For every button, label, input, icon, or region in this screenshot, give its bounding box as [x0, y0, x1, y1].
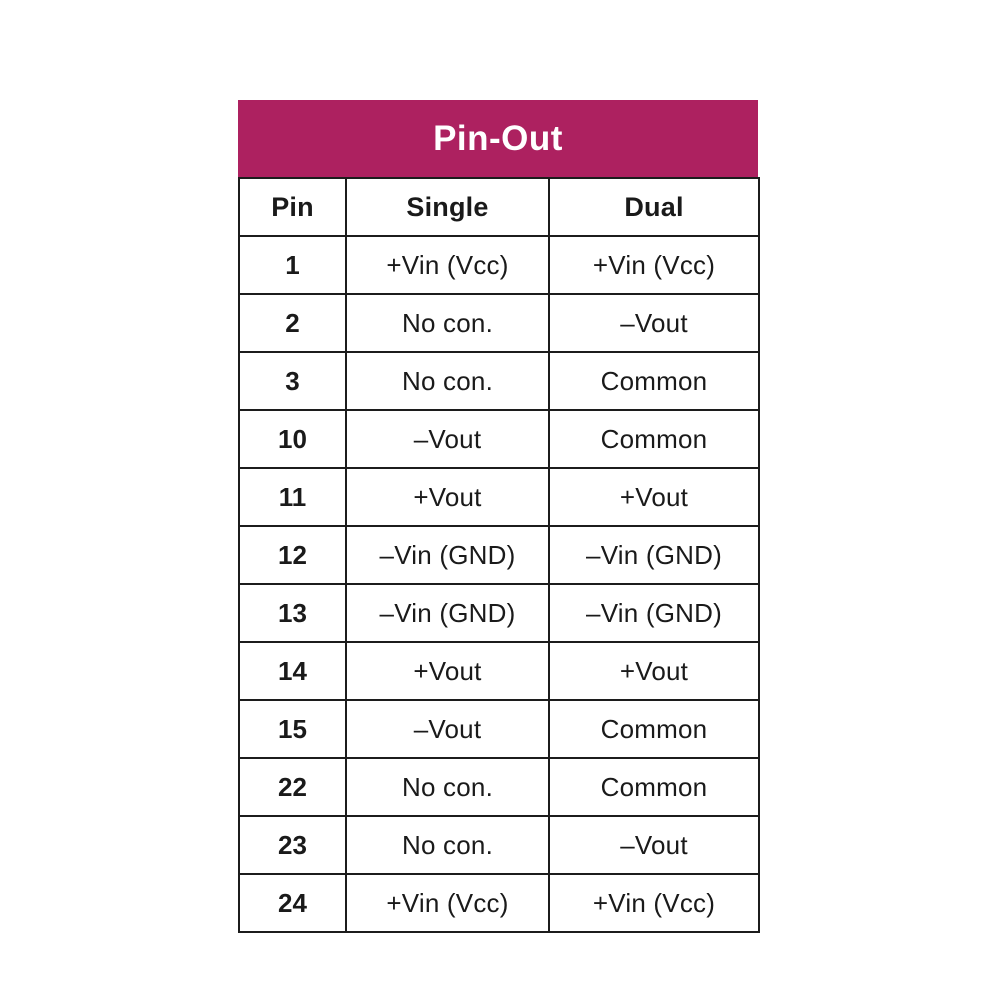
cell-pin-number: 23: [239, 816, 346, 874]
pinout-table-title: Pin-Out: [238, 100, 758, 177]
cell-pin-number: 22: [239, 758, 346, 816]
table-row: 11+Vout+Vout: [239, 468, 759, 526]
table-row: 15–VoutCommon: [239, 700, 759, 758]
cell-pin-number: 1: [239, 236, 346, 294]
cell-pin-number: 3: [239, 352, 346, 410]
cell-single: –Vin (GND): [346, 584, 549, 642]
cell-dual: –Vout: [549, 816, 759, 874]
cell-dual: +Vin (Vcc): [549, 236, 759, 294]
cell-single: –Vout: [346, 410, 549, 468]
cell-single: No con.: [346, 352, 549, 410]
cell-pin-number: 2: [239, 294, 346, 352]
cell-single: No con.: [346, 816, 549, 874]
cell-single: +Vin (Vcc): [346, 236, 549, 294]
cell-pin-number: 12: [239, 526, 346, 584]
cell-pin-number: 14: [239, 642, 346, 700]
cell-dual: –Vin (GND): [549, 584, 759, 642]
table-row: 22No con.Common: [239, 758, 759, 816]
cell-dual: Common: [549, 352, 759, 410]
cell-pin-number: 10: [239, 410, 346, 468]
cell-single: –Vout: [346, 700, 549, 758]
table-header: Pin Single Dual: [239, 178, 759, 236]
table-header-row: Pin Single Dual: [239, 178, 759, 236]
table-row: 2No con.–Vout: [239, 294, 759, 352]
cell-dual: –Vin (GND): [549, 526, 759, 584]
table-row: 14+Vout+Vout: [239, 642, 759, 700]
cell-dual: +Vout: [549, 642, 759, 700]
cell-single: –Vin (GND): [346, 526, 549, 584]
cell-dual: Common: [549, 410, 759, 468]
cell-dual: +Vout: [549, 468, 759, 526]
cell-dual: Common: [549, 758, 759, 816]
pinout-table: Pin Single Dual 1+Vin (Vcc)+Vin (Vcc)2No…: [238, 177, 760, 933]
cell-pin-number: 24: [239, 874, 346, 932]
column-header-pin: Pin: [239, 178, 346, 236]
table-row: 1+Vin (Vcc)+Vin (Vcc): [239, 236, 759, 294]
table-row: 23No con.–Vout: [239, 816, 759, 874]
cell-pin-number: 11: [239, 468, 346, 526]
cell-single: No con.: [346, 758, 549, 816]
cell-dual: Common: [549, 700, 759, 758]
page-root: Pin-Out Pin Single Dual 1+Vin (Vcc)+Vin …: [0, 0, 1000, 1000]
table-row: 13–Vin (GND)–Vin (GND): [239, 584, 759, 642]
cell-single: +Vout: [346, 468, 549, 526]
table-row: 3No con.Common: [239, 352, 759, 410]
column-header-dual: Dual: [549, 178, 759, 236]
cell-pin-number: 15: [239, 700, 346, 758]
table-row: 10–VoutCommon: [239, 410, 759, 468]
table-body: 1+Vin (Vcc)+Vin (Vcc)2No con.–Vout3No co…: [239, 236, 759, 932]
cell-dual: –Vout: [549, 294, 759, 352]
cell-pin-number: 13: [239, 584, 346, 642]
column-header-single: Single: [346, 178, 549, 236]
cell-dual: +Vin (Vcc): [549, 874, 759, 932]
pinout-table-block: Pin-Out Pin Single Dual 1+Vin (Vcc)+Vin …: [238, 100, 758, 933]
cell-single: +Vout: [346, 642, 549, 700]
table-row: 24+Vin (Vcc)+Vin (Vcc): [239, 874, 759, 932]
cell-single: +Vin (Vcc): [346, 874, 549, 932]
table-row: 12–Vin (GND)–Vin (GND): [239, 526, 759, 584]
cell-single: No con.: [346, 294, 549, 352]
